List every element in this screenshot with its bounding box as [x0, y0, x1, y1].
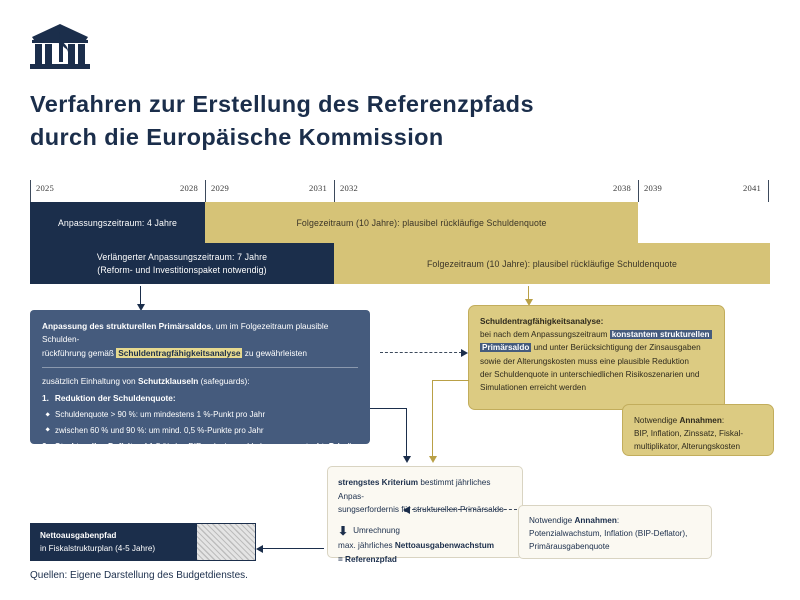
- timeline-bar-folgezeitraum-1: Folgezeitraum (10 Jahre): plausibel rück…: [205, 202, 638, 243]
- blue-box-lead: Anpassung des strukturellen Primärsaldos…: [42, 320, 358, 360]
- cb2-title-b: :: [617, 516, 619, 525]
- axis-tick-2029: [205, 180, 206, 202]
- timeline-bar-folgezeitraum-2: Folgezeitraum (10 Jahre): plausibel rück…: [334, 243, 770, 284]
- blue-box-divider: [42, 367, 358, 368]
- connector-gold-box-horizontal: [432, 380, 469, 381]
- hatched-extension-block: [196, 523, 256, 561]
- item-1-number: 1.: [42, 392, 49, 405]
- axis-tick-2039: [638, 180, 639, 202]
- cb2-title-a: Notwendige: [529, 516, 575, 525]
- bar-label: Folgezeitraum (10 Jahre): plausibel rück…: [296, 218, 546, 228]
- connector-blue-to-gold-arrowhead: [461, 349, 468, 357]
- item-2-bold-2: strukt. Primär-: [301, 441, 358, 451]
- safeguard-intro-a: zusätzlich Einhaltung von: [42, 376, 138, 386]
- blue-box-lead-line2b: zu gewährleisten: [242, 348, 307, 358]
- timeline-bar-verlaengerter-anpassungszeitraum-7: Verlängerter Anpassungszeitraum: 7 Jahre…: [30, 243, 334, 284]
- gold-box-line-2b: und unter Berücksichtigung der Zinsausga…: [531, 343, 700, 352]
- axis-label-2032: 2032: [340, 183, 358, 193]
- blue-box-lead-line2a: rückführung gemäß: [42, 348, 116, 358]
- connector-blue-box-to-center-arrowhead: [403, 456, 411, 463]
- axis-label-2039: 2039: [644, 183, 662, 193]
- axis-label-2031: 2031: [260, 183, 327, 193]
- timeline-bar-anpassungszeitraum-4: Anpassungszeitraum: 4 Jahre: [30, 202, 205, 243]
- center-line-3-bold: Nettoausgabenwachstum: [395, 541, 494, 550]
- safeguard-intro-bold: Schutzklauseln: [138, 376, 198, 386]
- blue-box-safeguard-intro: zusätzlich Einhaltung von Schutzklauseln…: [42, 375, 358, 388]
- center-line-4: = Referenzpfad: [338, 553, 512, 567]
- center-criteria-box: strengstes Kriterium bestimmt jährliches…: [327, 466, 523, 558]
- item-1-title: Reduktion der Schuldenquote:: [55, 392, 176, 405]
- nettoausgabenpfad-text: Nettoausgabenpfad in Fiskalstrukturplan …: [40, 530, 155, 555]
- gold-box-line-5: Simulationen erreicht werden: [480, 383, 586, 392]
- center-line-3a: max. jährliches: [338, 541, 395, 550]
- center-line-3: max. jährliches Nettoausgabenwachstum: [338, 539, 512, 553]
- center-line-4-bold: = Referenzpfad: [338, 555, 397, 564]
- item-2-rest: um 0,4 %-Punkte pro Jahr (0,25 %-Punkte …: [55, 455, 290, 478]
- axis-tick-2032: [334, 180, 335, 202]
- connector-center-to-netto: [262, 548, 324, 549]
- bar-label-line-2: (Reform- und Investitionspaket notwendig…: [97, 265, 266, 275]
- bar-label: Anpassungszeitraum: 4 Jahre: [58, 218, 177, 228]
- source-note: Quellen: Eigene Darstellung des Budgetdi…: [30, 570, 248, 581]
- gold-box-line-3: sowie der Alterungskosten muss eine plau…: [480, 357, 689, 366]
- bar-label-multiline: Verlängerter Anpassungszeitraum: 7 Jahre…: [97, 251, 267, 277]
- gold-box-line-4: der Schuldenquote in unterschiedlichen R…: [480, 370, 699, 379]
- gold-box-notwendige-annahmen: Notwendige Annahmen: BIP, Inflation, Zin…: [622, 404, 774, 456]
- blue-box-lead-bold: Anpassung des strukturellen Primärsaldos: [42, 321, 211, 331]
- cb2-line-1: Potenzialwachstum, Inflation (BIP-Deflat…: [529, 529, 687, 538]
- gb2-title-b: :: [722, 416, 724, 425]
- nettoausgabenpfad-box: Nettoausgabenpfad in Fiskalstrukturplan …: [30, 523, 256, 561]
- blue-box-item-2: 2. Strukturelles Defizit auf 1,5 % des B…: [42, 440, 358, 480]
- timeline-axis: 2025 2028 2029 2031 2032 2038 2039 2041: [30, 180, 770, 202]
- connector-blue-box-horizontal: [370, 408, 407, 409]
- blue-info-box: Anpassung des strukturellen Primärsaldos…: [30, 310, 370, 444]
- gold-box-schuldentragfaehigkeitsanalyse: Schuldentragfähigkeitsanalyse: bei nach …: [468, 305, 725, 410]
- item-2-mid-1: auf 1,5 % des BIP reduzieren: Verbesseru…: [133, 441, 301, 451]
- nettoausgabenpfad-title: Nettoausgabenpfad: [40, 531, 116, 540]
- connector-gold-box-to-center-vertical: [432, 380, 433, 458]
- axis-label-2025: 2025: [36, 183, 54, 193]
- gold-box-title: Schuldentragfähigkeitsanalyse:: [480, 317, 603, 326]
- item-2-bold-3: saldo: [55, 455, 77, 465]
- connector-blue-to-gold-dashed: [380, 352, 462, 353]
- cb2-title-bold: Annahmen: [575, 516, 617, 525]
- bar-label: Folgezeitraum (10 Jahre): plausibel rück…: [427, 259, 677, 269]
- axis-label-2029: 2029: [211, 183, 229, 193]
- axis-label-2041: 2041: [690, 183, 761, 193]
- page-title-line-1: Verfahren zur Erstellung des Referenzpfa…: [30, 88, 770, 121]
- center-assumptions-box: Notwendige Annahmen: Potenzialwachstum, …: [518, 505, 712, 559]
- blue-box-item-1-bullets: Schuldenquote > 90 %: um mindestens 1 %-…: [42, 408, 358, 437]
- axis-tick-2025: [30, 180, 31, 202]
- connector-timeline-to-blue-box: [140, 286, 141, 306]
- connector-blue-box-to-center-vertical: [406, 408, 407, 458]
- cb2-line-2: Primärausgabenquote: [529, 542, 610, 551]
- gold-box-line-1a: bei nach dem Anpassungszeitraum: [480, 330, 610, 339]
- page-title-line-2: durch die Europäische Kommission: [30, 121, 770, 154]
- highlight-schuldentragfaehigkeitsanalyse: Schuldentragfähigkeitsanalyse: [116, 348, 242, 358]
- connector-assumptions-to-center-dashed: [407, 509, 517, 510]
- parliament-building-logo: [28, 22, 92, 72]
- page-title: Verfahren zur Erstellung des Referenzpfa…: [30, 88, 770, 154]
- item-2-bold-1: Strukturelles Defizit: [55, 441, 133, 451]
- bullet-item: zwischen 60 % und 90 %: um mind. 0,5 %-P…: [42, 424, 358, 437]
- axis-tick-end: [768, 180, 769, 202]
- highlight-konstantem-strukturellen: konstantem strukturellen: [610, 330, 712, 339]
- axis-label-2028: 2028: [130, 183, 198, 193]
- gb2-title-a: Notwendige: [634, 416, 680, 425]
- nettoausgabenpfad-subtitle: in Fiskalstrukturplan (4-5 Jahre): [40, 544, 155, 553]
- item-2-text: Strukturelles Defizit auf 1,5 % des BIP …: [55, 440, 358, 480]
- gb2-line-2: multiplikator, Alterungskosten: [634, 442, 740, 451]
- center-umrechnung-row: ⬇ Umrechnung: [338, 524, 512, 538]
- center-arrow-label: Umrechnung: [353, 524, 400, 538]
- highlight-primaersaldo: Primärsaldo: [480, 343, 531, 352]
- down-arrow-icon: ⬇: [338, 526, 348, 536]
- connector-gold-box-to-center-arrowhead: [429, 456, 437, 463]
- blue-box-numbered-list: 1. Reduktion der Schuldenquote: Schulden…: [42, 392, 358, 481]
- safeguard-intro-b: (safeguards):: [198, 376, 249, 386]
- center-line-1-bold: strengstes Kriterium: [338, 478, 418, 487]
- connector-assumptions-to-center-arrowhead: [403, 506, 410, 514]
- bar-label-line-1: Verlängerter Anpassungszeitraum: 7 Jahre: [97, 252, 267, 262]
- bullet-item: Schuldenquote > 90 %: um mindestens 1 %-…: [42, 408, 358, 421]
- connector-center-to-netto-arrowhead: [256, 545, 263, 553]
- gb2-line-1: BIP, Inflation, Zinssatz, Fiskal-: [634, 429, 743, 438]
- axis-label-2038: 2038: [560, 183, 631, 193]
- item-2-number: 2.: [42, 440, 49, 480]
- gb2-title-bold: Annahmen: [680, 416, 722, 425]
- blue-box-item-1: 1. Reduktion der Schuldenquote:: [42, 392, 358, 405]
